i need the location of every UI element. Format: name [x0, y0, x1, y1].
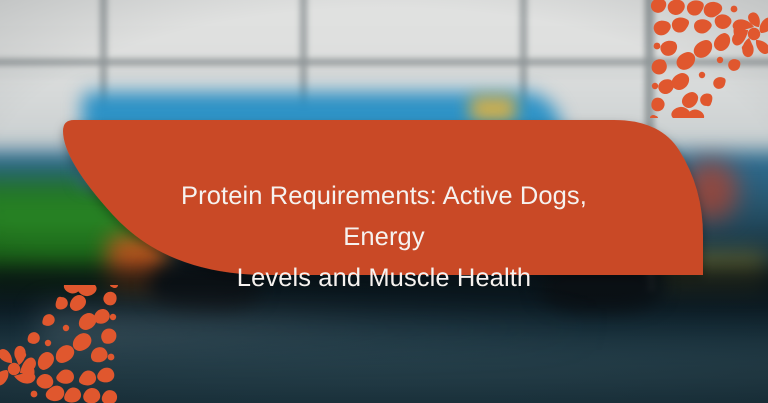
title-banner: Protein Requirements: Active Dogs, Energ…	[0, 0, 768, 403]
page-title-line-2: Levels and Muscle Health	[146, 258, 622, 299]
featured-image-card: Protein Requirements: Active Dogs, Energ…	[0, 0, 768, 403]
page-title-line-1: Protein Requirements: Active Dogs, Energ…	[181, 182, 587, 251]
page-title: Protein Requirements: Active Dogs, Energ…	[146, 176, 622, 299]
